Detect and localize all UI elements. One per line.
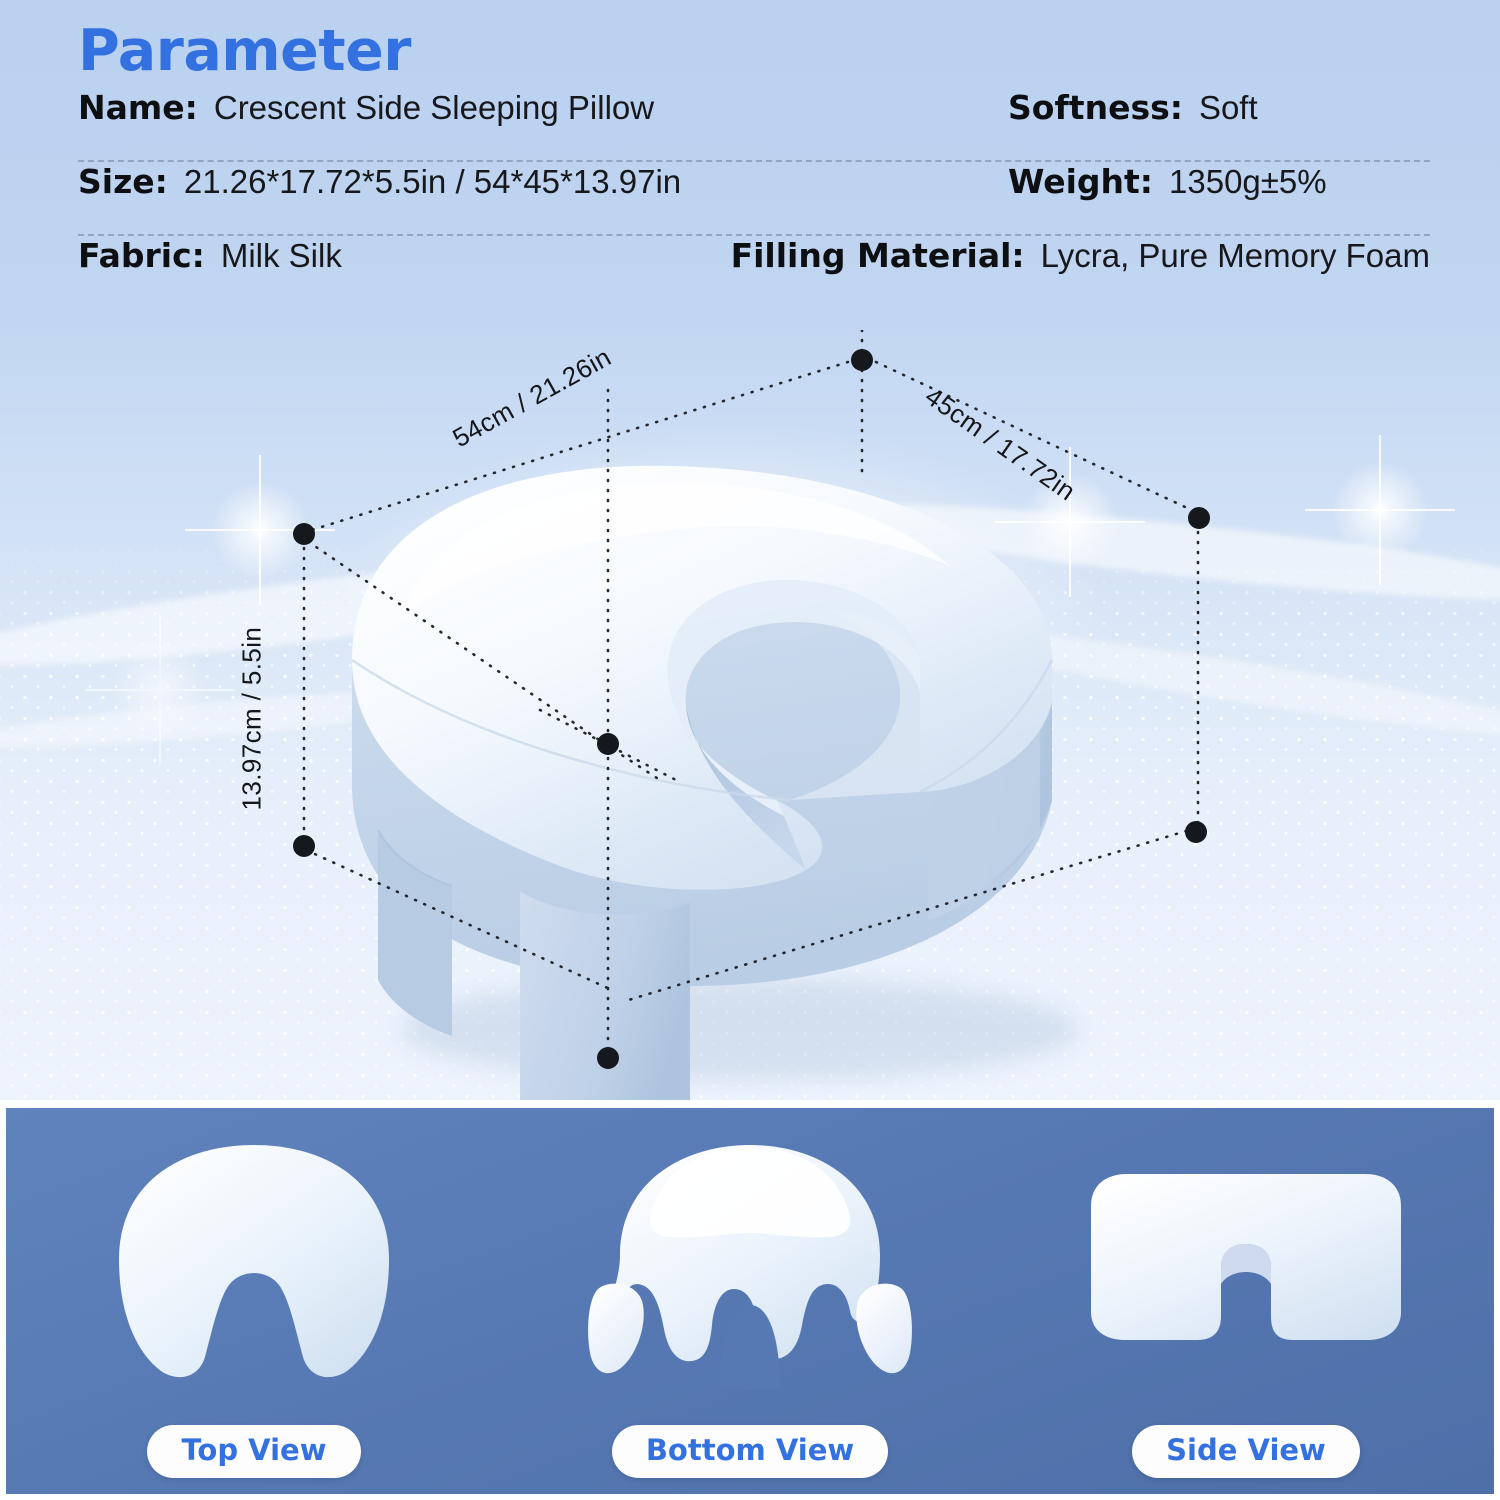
top-view-art	[44, 1108, 464, 1425]
view-label-top: Top View	[147, 1425, 360, 1478]
bottom-view-art	[540, 1108, 960, 1425]
dimension-marker	[1188, 507, 1210, 529]
spec-value: 21.26*17.72*5.5in / 54*45*13.97in	[184, 163, 681, 201]
dimension-marker	[1185, 821, 1207, 843]
spec-cell-filling-material: Filling Material: Lycra, Pure Memory Foa…	[731, 236, 1430, 275]
views-panel: Top View	[0, 1100, 1500, 1500]
view-item-side: Side View	[1036, 1108, 1456, 1478]
view-label-bottom: Bottom View	[612, 1425, 888, 1478]
spec-key: Size:	[78, 162, 168, 201]
product-infographic: Parameter Name: Crescent Side Sleeping P…	[0, 0, 1500, 1500]
spec-cell-softness: Softness: Soft	[1008, 88, 1430, 127]
dimension-marker	[597, 733, 619, 755]
spec-value: Milk Silk	[221, 237, 342, 275]
pillow-bottom-view-icon	[580, 1139, 920, 1389]
spec-key: Weight:	[1008, 162, 1153, 201]
side-view-art	[1036, 1108, 1456, 1425]
spec-key: Filling Material:	[731, 236, 1025, 275]
dimension-marker	[851, 349, 873, 371]
pillow-3d-illustration	[0, 330, 1500, 1100]
dimension-marker	[597, 1047, 619, 1069]
spec-cell-size: Size: 21.26*17.72*5.5in / 54*45*13.97in	[78, 162, 1008, 201]
pillow-top-view-icon	[89, 1139, 419, 1389]
spec-cell-name: Name: Crescent Side Sleeping Pillow	[78, 88, 1008, 127]
page-title: Parameter	[78, 22, 1430, 82]
spec-key: Fabric:	[78, 236, 205, 275]
product-hero-scene: 54cm / 21.26in 45cm / 17.72in 13.97cm / …	[0, 330, 1500, 1100]
spec-value: 1350g±5%	[1169, 163, 1327, 201]
spec-key: Softness:	[1008, 88, 1183, 127]
view-item-top: Top View	[44, 1108, 464, 1478]
dimension-marker	[293, 835, 315, 857]
spec-value: Soft	[1199, 89, 1258, 127]
spec-value: Lycra, Pure Memory Foam	[1041, 237, 1430, 275]
spec-value: Crescent Side Sleeping Pillow	[214, 89, 654, 127]
spec-cell-fabric: Fabric: Milk Silk	[78, 236, 731, 275]
dimension-marker	[293, 523, 315, 545]
view-label-side: Side View	[1132, 1425, 1360, 1478]
spec-row: Name: Crescent Side Sleeping Pillow Soft…	[78, 88, 1430, 162]
views-strip: Top View	[6, 1108, 1494, 1494]
spec-row: Fabric: Milk Silk Filling Material: Lycr…	[78, 236, 1430, 310]
spec-row: Size: 21.26*17.72*5.5in / 54*45*13.97in …	[78, 162, 1430, 236]
parameter-spec-panel: Parameter Name: Crescent Side Sleeping P…	[0, 0, 1500, 330]
pillow-side-view-icon	[1081, 1164, 1411, 1364]
spec-key: Name:	[78, 88, 198, 127]
dimension-label-height: 13.97cm / 5.5in	[237, 627, 268, 811]
spec-cell-weight: Weight: 1350g±5%	[1008, 162, 1430, 201]
view-item-bottom: Bottom View	[540, 1108, 960, 1478]
